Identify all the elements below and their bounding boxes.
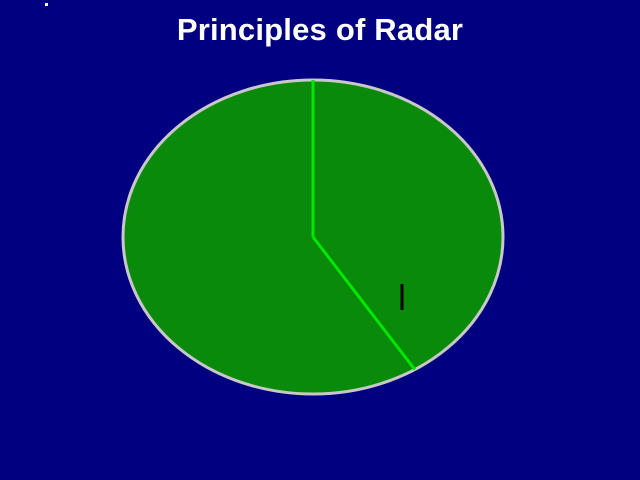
tick-marker bbox=[401, 284, 404, 310]
pie-chart-svg bbox=[0, 0, 640, 480]
pie-chart bbox=[0, 0, 640, 480]
slide-canvas: Principles of Radar bbox=[0, 0, 640, 480]
